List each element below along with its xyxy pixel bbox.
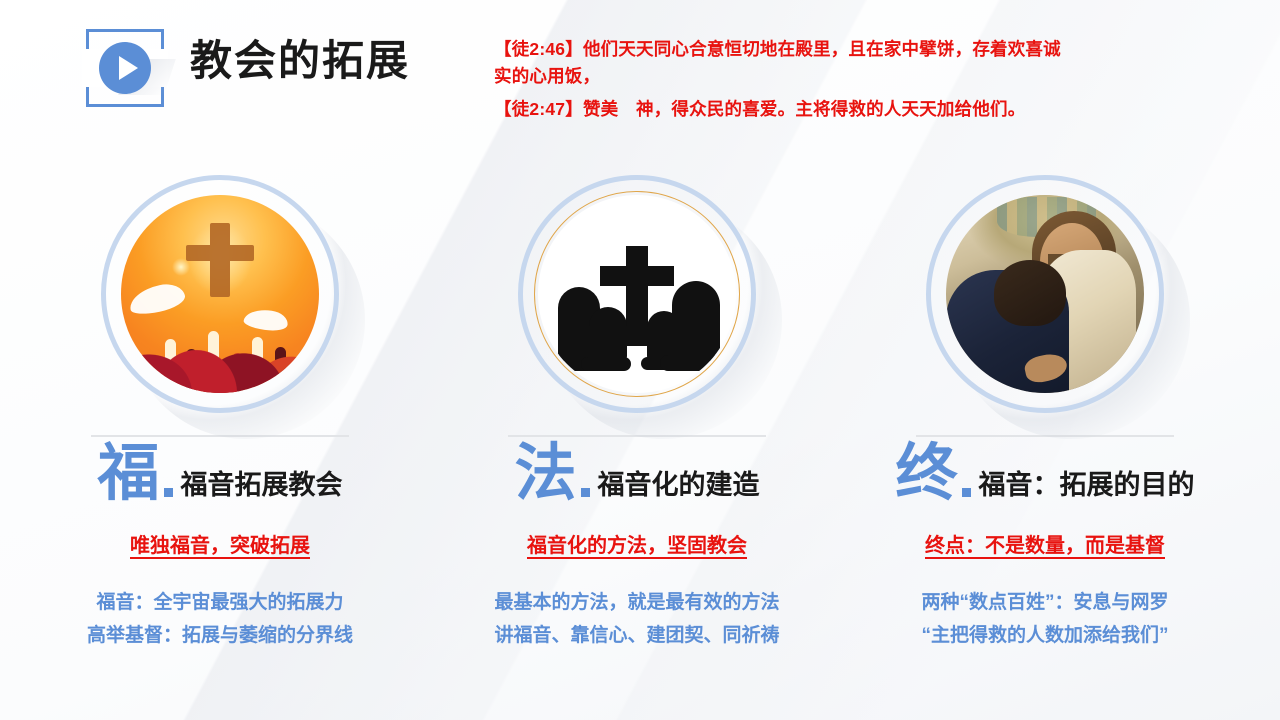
column-2-heading-row: 法 福音化的建造 [437,443,837,505]
man-head [994,260,1066,326]
scripture-verse-2: 【徒2:47】赞美 神，得众民的喜爱。主将得救的人天天加给他们。 [494,96,1194,123]
scripture-block: 【徒2:46】他们天天同心合意恒切地在殿里，且在家中擘饼，存着欢喜诚 实的心用饭… [494,36,1194,129]
column-method: 法 福音化的建造 福音化的方法，坚固教会 最基本的方法，就是最有效的方法 讲福音… [437,175,837,653]
crowd-silhouette [121,302,319,393]
play-circle [99,42,151,94]
verse-1-line-2: 实的心用饭， [494,66,600,86]
medallion-1 [101,175,339,413]
presentation-slide: 教会的拓展 【徒2:46】他们天天同心合意恒切地在殿里，且在家中擘饼，存着欢喜诚… [0,0,1280,720]
column-3-heading: 福音：拓展的目的 [979,472,1195,499]
square-bullet-icon [962,488,971,497]
three-column-content: 福 福音拓展教会 唯独福音，突破拓展 福音：全宇宙最强大的拓展力 高举基督：拓展… [0,175,1280,695]
medallion-2 [518,175,756,413]
column-2-heading: 福音化的建造 [598,472,760,499]
column-3-big-char: 终 [895,443,957,505]
column-3-blue-line-2: “主把得救的人数加添给我们” [845,619,1245,652]
column-3-blue-line-1: 两种“数点百姓”：安息与网罗 [845,586,1245,619]
column-2-blue-lines: 最基本的方法，就是最有效的方法 讲福音、靠信心、建团契、同祈祷 [437,586,837,653]
column-1-blue-line-1: 福音：全宇宙最强大的拓展力 [20,586,420,619]
jesus-artwork [946,195,1144,393]
column-2-big-char: 法 [514,443,576,505]
column-gospel: 福 福音拓展教会 唯独福音，突破拓展 福音：全宇宙最强大的拓展力 高举基督：拓展… [20,175,420,653]
medallion-3 [926,175,1164,413]
column-1-heading-row: 福 福音拓展教会 [20,443,420,505]
square-bullet-icon [164,488,173,497]
page-title: 教会的拓展 [190,40,410,82]
gospel-artwork [121,195,319,393]
column-2-blue-line-1: 最基本的方法，就是最有效的方法 [437,586,837,619]
verse-2-reference: 【徒2:47】 [494,99,583,119]
column-purpose: 终 福音：拓展的目的 终点：不是数量，而是基督 两种“数点百姓”：安息与网罗 “… [845,175,1245,653]
cross-doves-raised-hands-image [121,195,319,393]
column-1-big-char: 福 [97,443,159,505]
column-1-red-line: 唯独福音，突破拓展 [20,529,420,558]
scripture-verse-1: 【徒2:46】他们天天同心合意恒切地在殿里，且在家中擘饼，存着欢喜诚 实的心用饭… [494,36,1194,90]
star-sparkle-icon [172,258,190,276]
verse-1-line-1: 他们天天同心合意恒切地在殿里，且在家中擘饼，存着欢喜诚 [583,39,1061,59]
column-2-red-line: 福音化的方法，坚固教会 [437,529,837,558]
column-3-heading-row: 终 福音：拓展的目的 [845,443,1245,505]
column-1-heading: 福音拓展教会 [181,472,343,499]
column-1-blue-lines: 福音：全宇宙最强大的拓展力 高举基督：拓展与萎缩的分界线 [20,586,420,653]
column-2-blue-line-2: 讲福音、靠信心、建团契、同祈祷 [437,619,837,652]
play-button-icon [86,29,164,107]
column-3-blue-lines: 两种“数点百姓”：安息与网罗 “主把得救的人数加添给我们” [845,586,1245,653]
medallion-2-gold-ring [534,191,740,397]
verse-1-reference: 【徒2:46】 [494,39,583,59]
column-3-red-line: 终点：不是数量，而是基督 [845,529,1245,558]
column-1-blue-line-2: 高举基督：拓展与萎缩的分界线 [20,619,420,652]
cross-icon [210,223,230,297]
verse-2-text: 赞美 神，得众民的喜爱。主将得救的人天天加给他们。 [583,99,1026,119]
slide-header: 教会的拓展 【徒2:46】他们天天同心合意恒切地在殿里，且在家中擘饼，存着欢喜诚… [0,0,1280,140]
jesus-comforting-man-painting-image [946,195,1144,393]
square-bullet-icon [581,488,590,497]
